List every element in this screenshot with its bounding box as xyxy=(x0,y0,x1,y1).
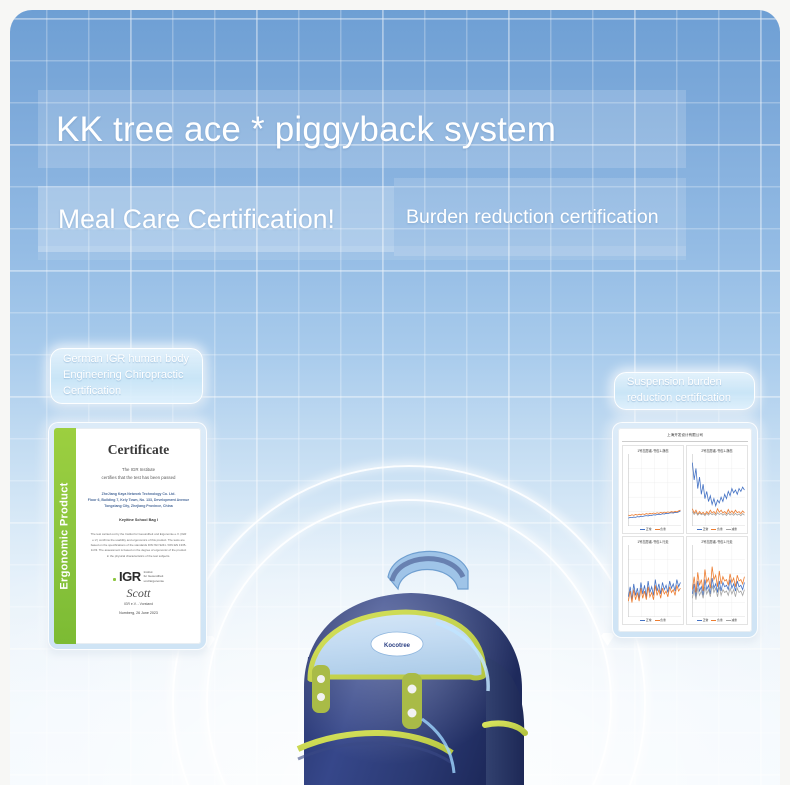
report-chart-legend: 正常负重减重 xyxy=(689,618,745,622)
backpack-handle xyxy=(388,551,468,589)
report-chart-title: 2号志愿者-书包1-静态 xyxy=(689,448,745,453)
report-chart-4: 2号志愿者-书包1-行走正常负重减重 xyxy=(686,536,748,625)
certificate-subheading-line2: certifies that the test has been passed xyxy=(84,474,193,482)
headline-subtitle-left-box: Meal Care Certification! xyxy=(38,186,394,252)
report-chart-title: 1号志愿者-书包1-行走 xyxy=(625,539,681,544)
callout-left-line1: German IGR human body xyxy=(63,352,190,368)
page-title: KK tree ace * piggyback system xyxy=(38,112,556,147)
report-chart-grid: 1号志愿者-书包1-静态正常负重2号志愿者-书包1-静态正常负重减重1号志愿者-… xyxy=(622,445,748,625)
callout-suspension-burden: Suspension burden reduction certificatio… xyxy=(614,372,755,410)
report-chart-3: 1号志愿者-书包1-行走正常负重 xyxy=(622,536,684,625)
brand-badge: Kocotree xyxy=(371,632,423,656)
legend-item: 减重 xyxy=(726,527,737,531)
certificate-org-line3: Tongxiang City, Zhejiang Province, China xyxy=(84,503,193,509)
igr-logo: IGR Institut fur Gesundheit und Ergonomi… xyxy=(84,569,193,584)
report-chart-legend: 正常负重减重 xyxy=(689,527,745,531)
legend-item: 负重 xyxy=(655,618,666,622)
certificate-body: Certificate The IGR Institute certifies … xyxy=(76,428,201,644)
subtitle-left: Meal Care Certification! xyxy=(38,206,335,233)
headline-title-box: KK tree ace * piggyback system xyxy=(38,90,686,168)
report-chart-title: 2号志愿者-书包1-行走 xyxy=(689,539,745,544)
legend-item: 减重 xyxy=(726,618,737,622)
legend-item: 正常 xyxy=(640,618,651,622)
promo-banner: KK tree ace * piggyback system Burden re… xyxy=(0,0,790,785)
legend-item: 正常 xyxy=(697,527,708,531)
report-chart-legend: 正常负重 xyxy=(625,527,681,531)
brand-badge-text: Kocotree xyxy=(384,643,411,649)
legend-item: 负重 xyxy=(655,527,666,531)
report-chart-title: 1号志愿者-书包1-静态 xyxy=(625,448,681,453)
igr-tagline-1: Institut xyxy=(144,570,153,574)
report-chart-plot xyxy=(689,545,745,617)
certificate-subheading-line1: The IGR Institute xyxy=(84,466,193,474)
certificate-signature: Scott xyxy=(84,586,193,601)
test-report-page: 上海开发设计有限公司 1号志愿者-书包1-静态正常负重2号志愿者-书包1-静态正… xyxy=(618,428,752,632)
igr-logo-tagline: Institut fur Gesundheit und Ergonomie xyxy=(144,570,164,584)
certificate-side-band: Ergonomic Product xyxy=(54,428,76,644)
legend-item: 负重 xyxy=(711,527,722,531)
certificate-body-text: The test carried out by the Institut fur… xyxy=(84,532,193,559)
product-backpack: Kocotree xyxy=(246,537,576,785)
report-chart-plot xyxy=(689,454,745,526)
legend-item: 负重 xyxy=(711,618,722,622)
report-chart-2: 2号志愿者-书包1-静态正常负重减重 xyxy=(686,445,748,534)
certificate-page: Ergonomic Product Certificate The IGR In… xyxy=(54,428,201,644)
certificate-org: ZheJiang Kaya Network Technology Co. Ltd… xyxy=(84,491,193,509)
callout-right-line1: Suspension burden xyxy=(627,375,742,391)
report-title: 上海开发设计有限公司 xyxy=(622,433,748,442)
backpack-illustration: Kocotree xyxy=(246,537,576,785)
igr-logo-mark: IGR xyxy=(119,569,141,584)
legend-item: 正常 xyxy=(640,527,651,531)
report-chart-legend: 正常负重 xyxy=(625,618,681,622)
certificate-card: Ergonomic Product Certificate The IGR In… xyxy=(48,422,207,650)
certificate-heading: Certificate xyxy=(84,442,193,458)
callout-right-line2: reduction certification xyxy=(627,391,742,407)
headline-ghost-strip xyxy=(38,246,686,260)
callout-left-line2: Engineering Chiropractic Certification xyxy=(63,368,190,400)
banner-panel: KK tree ace * piggyback system Burden re… xyxy=(10,10,780,785)
igr-tagline-3: und Ergonomie xyxy=(144,579,164,583)
certificate-signature-line: IGR e.V. - Vorstand xyxy=(84,602,193,606)
certificate-item: Keyitine School Bag I xyxy=(84,518,193,522)
report-chart-1: 1号志愿者-书包1-静态正常负重 xyxy=(622,445,684,534)
subtitle-right: Burden reduction certification xyxy=(394,204,659,231)
report-chart-plot xyxy=(625,545,681,617)
igr-logo-dot-icon xyxy=(113,578,116,581)
callout-german-igr: German IGR human body Engineering Chirop… xyxy=(50,348,203,404)
test-report-card: 上海开发设计有限公司 1号志愿者-书包1-静态正常负重2号志愿者-书包1-静态正… xyxy=(612,422,758,638)
igr-tagline-2: fur Gesundheit xyxy=(144,574,164,578)
headline-subtitle-right-box: Burden reduction certification xyxy=(394,178,686,256)
certificate-subheading: The IGR Institute certifies that the tes… xyxy=(84,466,193,482)
certificate-date: Nurnberg, 26 June 2023 xyxy=(84,611,193,615)
report-chart-plot xyxy=(625,454,681,526)
certificate-side-label: Ergonomic Product xyxy=(59,482,71,589)
legend-item: 正常 xyxy=(697,618,708,622)
